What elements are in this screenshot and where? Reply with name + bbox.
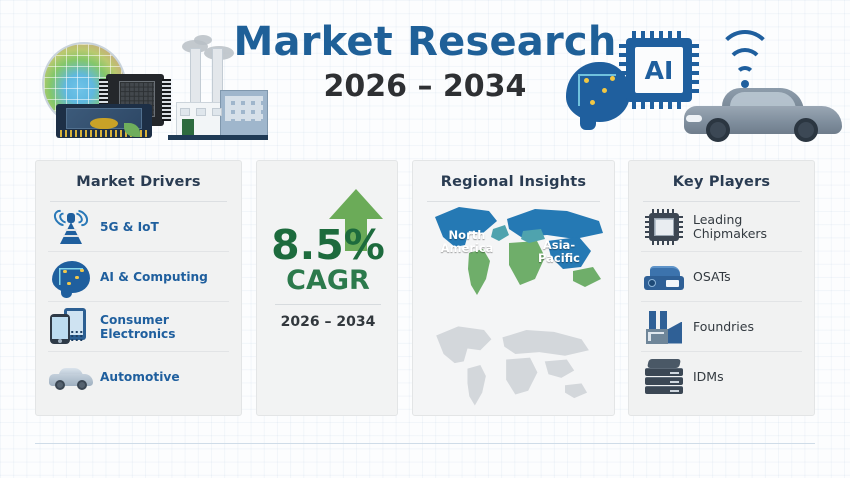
header: Market Research 2026 – 2034 AI [0,0,850,152]
cagr-label: CAGR [257,266,399,296]
market-drivers-title: Market Drivers [36,161,241,190]
ai-chip-icon: AI [626,38,692,102]
key-players-title: Key Players [629,161,814,190]
car-icon [48,356,94,398]
list-item-label: Automotive [94,370,180,384]
world-map: North America Asia- Pacific [423,201,606,409]
list-item[interactable]: AI & Computing [48,252,229,302]
list-item-label: 5G & IoT [94,220,159,234]
region-label-line2: America [441,241,494,255]
region-label-line1: North [449,228,486,242]
chip-package-icon [641,206,687,248]
list-item-label: Leading Chipmakers [687,213,767,241]
list-item-label: Foundries [687,320,754,334]
panel-cagr: 8.5% CAGR 2026 – 2034 [256,160,398,416]
regional-insights-title: Regional Insights [413,161,614,190]
server-stack-icon [641,356,687,398]
list-item-label-line1: Leading [693,212,742,227]
region-label-north-america: North America [435,229,499,255]
connected-car-icon [684,86,842,142]
cagr-period: 2026 – 2034 [257,313,399,331]
list-item-label: Consumer Electronics [94,313,229,341]
market-drivers-list: 5G & IoT AI & Computing [36,202,241,402]
list-item-label-text: Consumer Electronics [100,313,176,341]
list-item-label: AI & Computing [94,270,208,284]
region-label-line1: Asia- [543,238,575,252]
assembly-machine-icon [641,256,687,298]
panel-market-drivers: Market Drivers 5G & IoT [35,160,242,416]
ai-chip-label: AI [645,58,674,83]
divider [275,304,381,305]
panel-key-players: Key Players Leading Chipmakers [628,160,815,416]
list-item[interactable]: 5G & IoT [48,202,229,252]
key-players-list: Leading Chipmakers OSATs [629,202,814,402]
list-item[interactable]: IDMs [641,352,802,402]
list-item-label: OSATs [687,270,731,284]
header-right-artwork: AI [566,34,844,146]
list-item[interactable]: OSATs [641,252,802,302]
list-item[interactable]: Foundries [641,302,802,352]
panels-row: Market Drivers 5G & IoT [0,160,850,418]
panel-regional-insights: Regional Insights [412,160,615,416]
cell-tower-icon [48,206,94,248]
list-item[interactable]: Automotive [48,352,229,402]
list-item-label-line2: Chipmakers [693,226,767,241]
footer-divider [35,443,815,444]
wifi-signal-icon [714,52,776,86]
list-item[interactable]: Leading Chipmakers [641,202,802,252]
cagr-value: 8.5% [257,223,399,267]
region-label-asia-pacific: Asia- Pacific [531,239,587,265]
region-label-line2: Pacific [538,251,580,265]
list-item[interactable]: Consumer Electronics [48,302,229,352]
mobile-devices-icon [48,306,94,348]
list-item-label: IDMs [687,370,724,384]
brain-circuit-icon [48,256,94,298]
factory-icon [641,306,687,348]
